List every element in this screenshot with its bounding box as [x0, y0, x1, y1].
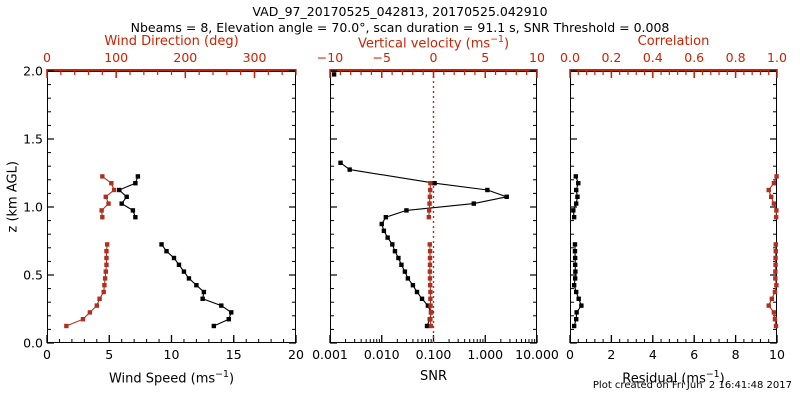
x-tick-label-bottom: 6 — [690, 347, 698, 362]
figure-canvas: VAD_97_20170525_042813, 20170525.042910 … — [0, 0, 800, 400]
x-tick-label-top: 0 — [430, 50, 438, 65]
x-tick-label-top: 5 — [481, 50, 489, 65]
x-tick-label-bottom: 0.100 — [416, 347, 452, 362]
x-tick-label-top: 1.0 — [767, 50, 787, 65]
x-tick-label-top: 300 — [243, 50, 267, 65]
series-residual — [571, 174, 583, 328]
x-tick-label-top: 0.8 — [726, 50, 746, 65]
x-tick-label-top: 0 — [43, 50, 51, 65]
x-tick-label-bottom: 10 — [769, 347, 785, 362]
x-tick-label-top: 10 — [529, 50, 545, 65]
x-tick-label-bottom: 0 — [566, 347, 574, 362]
x-tick-label-bottom: 0 — [43, 347, 51, 362]
x-tick-label-bottom: 2 — [607, 347, 615, 362]
x-tick-label-bottom: 20 — [288, 347, 304, 362]
x-tick-label-bottom: 8 — [732, 347, 740, 362]
x-tick-label-bottom: 10.000 — [515, 347, 559, 362]
x-tick-label-bottom: 10 — [164, 347, 180, 362]
x-tick-label-top: −10 — [317, 50, 343, 65]
series-wind-direction — [64, 174, 116, 328]
x-tick-label-top: 0.2 — [601, 50, 621, 65]
x-tick-label-bottom: 5 — [105, 347, 113, 362]
x-axis-title-top: Wind Direction (deg) — [7, 34, 336, 49]
x-axis-title-top: Correlation — [530, 34, 800, 49]
x-tick-label-top: 200 — [173, 50, 197, 65]
x-tick-label-bottom: 0.001 — [312, 347, 348, 362]
series-correlation — [767, 174, 779, 328]
series-wind-speed — [117, 174, 233, 328]
x-tick-label-bottom: 4 — [649, 347, 657, 362]
x-tick-label-top: 0.6 — [684, 50, 704, 65]
plot-creation-note: Plot created on Fri Jun 2 16:41:48 2017 — [0, 380, 800, 391]
series-snr — [332, 72, 509, 328]
x-tick-label-bottom: 1.000 — [467, 347, 503, 362]
x-tick-label-top: 0.0 — [560, 50, 580, 65]
x-tick-label-bottom: 15 — [226, 347, 242, 362]
x-tick-label-bottom: 0.010 — [364, 347, 400, 362]
x-tick-label-top: −5 — [373, 50, 391, 65]
x-tick-label-top: 0.4 — [643, 50, 663, 65]
x-tick-label-top: 100 — [104, 50, 128, 65]
